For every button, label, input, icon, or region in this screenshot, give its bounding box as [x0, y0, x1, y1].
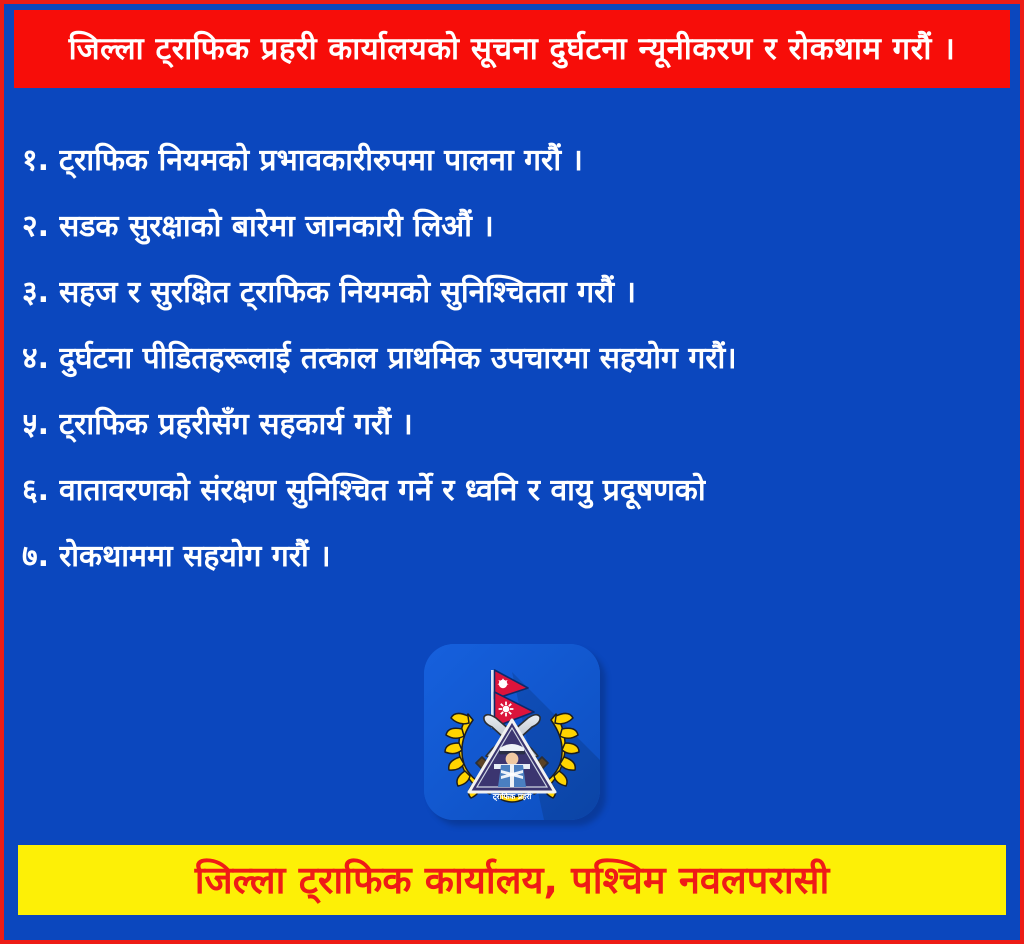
notice-text: दुर्घटना पीडितहरूलाई तत्काल प्राथमिक उपच… — [59, 326, 737, 392]
notice-item-1: १. ट्राफिक नियमको प्रभावकारीरुपमा पालना … — [22, 128, 1008, 194]
notice-text: ट्राफिक प्रहरीसँग सहकार्य गरौं । — [59, 392, 413, 458]
notice-text: ट्राफिक नियमको प्रभावकारीरुपमा पालना गरौ… — [59, 128, 583, 194]
notice-number: ७. — [22, 524, 49, 590]
notice-number: ६. — [22, 458, 49, 524]
notice-number: ४. — [22, 326, 49, 392]
notice-number: २. — [22, 194, 49, 260]
nepal-traffic-police-emblem-icon: ट्राफिक प्रहरी — [424, 644, 600, 820]
header-banner: जिल्ला ट्राफिक प्रहरी कार्यालयको सूचना द… — [14, 10, 1010, 88]
notice-number: १. — [22, 128, 49, 194]
notice-number: ३. — [22, 260, 49, 326]
traffic-police-notice-poster: जिल्ला ट्राफिक प्रहरी कार्यालयको सूचना द… — [0, 0, 1024, 944]
notice-text: वातावरणको संरक्षण सुनिश्चित गर्ने र ध्वन… — [59, 458, 706, 524]
footer-banner: जिल्ला ट्राफिक कार्यालय, पश्चिम नवलपरासी — [18, 845, 1006, 915]
notice-item-5: ५. ट्राफिक प्रहरीसँग सहकार्य गरौं । — [22, 392, 1008, 458]
footer-office-name: जिल्ला ट्राफिक कार्यालय, पश्चिम नवलपरासी — [195, 861, 830, 899]
notice-text: सडक सुरक्षाको बारेमा जानकारी लिऔं । — [59, 194, 494, 260]
notice-item-2: २. सडक सुरक्षाको बारेमा जानकारी लिऔं । — [22, 194, 1008, 260]
notice-item-7: ७. रोकथाममा सहयोग गरौं । — [22, 524, 1008, 590]
emblem-triangle-caption: ट्राफिक प्रहरी — [492, 792, 533, 802]
header-title: जिल्ला ट्राफिक प्रहरी कार्यालयको सूचना द… — [69, 34, 956, 65]
notice-item-6: ६. वातावरणको संरक्षण सुनिश्चित गर्ने र ध… — [22, 458, 1008, 524]
notice-list: १. ट्राफिक नियमको प्रभावकारीरुपमा पालना … — [22, 128, 1008, 590]
emblem-container: ट्राफिक प्रहरी — [424, 644, 600, 820]
notice-text: रोकथाममा सहयोग गरौं । — [59, 524, 331, 590]
notice-number: ५. — [22, 392, 49, 458]
notice-item-3: ३. सहज र सुरक्षित ट्राफिक नियमको सुनिश्च… — [22, 260, 1008, 326]
notice-item-4: ४. दुर्घटना पीडितहरूलाई तत्काल प्राथमिक … — [22, 326, 1008, 392]
notice-text: सहज र सुरक्षित ट्राफिक नियमको सुनिश्चितत… — [59, 260, 636, 326]
